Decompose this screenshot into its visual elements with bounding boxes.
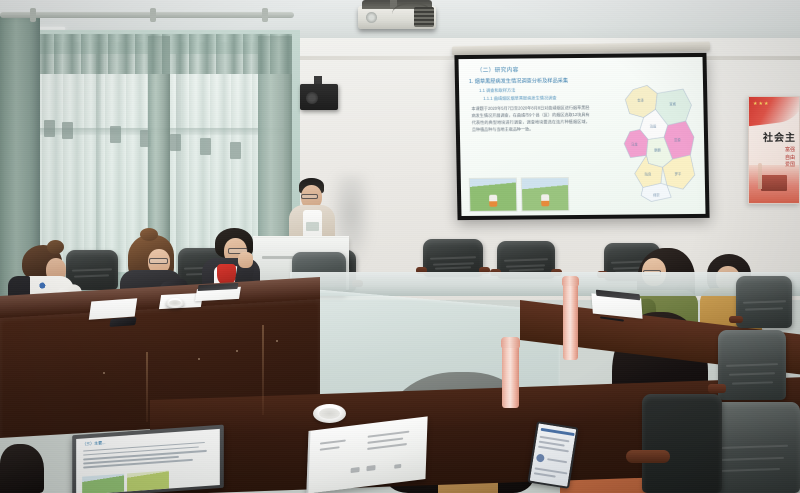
attendee-1-hair-bun xyxy=(47,240,64,254)
laptop-photo-2 xyxy=(127,471,169,492)
attendee-8-hair xyxy=(0,444,44,493)
map-svg-icon xyxy=(613,79,699,208)
ashtray-left xyxy=(166,298,184,308)
slide-photo-row xyxy=(469,177,570,212)
map-label-8: 师宗 xyxy=(653,192,659,197)
qujing-district-map: 会泽 宣威 沾益 富源 马龙 麒麟 陆良 罗平 师宗 xyxy=(613,79,699,208)
projector-lens-icon xyxy=(366,12,377,23)
attendee-2-hair-bun xyxy=(140,228,158,241)
map-label-6: 陆良 xyxy=(645,171,651,176)
presenter-glasses-icon xyxy=(301,194,318,199)
slide-body-text: 本课题于2020年5月7日至2020年8月8日对曲靖烟区进行烟草黑胫病发生情况开… xyxy=(471,104,590,134)
attendee-2-glasses-icon xyxy=(149,258,168,264)
table-seam-1 xyxy=(262,325,264,415)
pink-thermos-center[interactable] xyxy=(563,282,578,360)
laptop-photo-1 xyxy=(82,474,124,493)
ashtray-center xyxy=(313,404,346,423)
presenter-shirt-graphic xyxy=(306,222,319,231)
map-label-2: 沾益 xyxy=(650,123,656,128)
laptop-screen: （三）主要... xyxy=(76,429,220,493)
table-far-surface xyxy=(290,272,800,296)
conference-room-photo: （二）研究内容 1. 烟草黑胫病发生情况调查分析及样品采集 1.1 调查和取样方… xyxy=(0,0,800,493)
slide-photo-2 xyxy=(521,177,570,211)
pink-thermos-left[interactable] xyxy=(502,344,519,408)
pink-thermos-center-cap[interactable] xyxy=(562,276,579,286)
curtain-heading-pleats xyxy=(0,34,292,74)
chair-right-1[interactable] xyxy=(736,276,792,328)
curtain-rod xyxy=(0,12,294,18)
poster-monument-icon xyxy=(761,175,787,191)
open-laptop[interactable]: （三）主要... xyxy=(72,425,224,493)
map-label-1: 宣威 xyxy=(669,101,675,106)
map-label-7: 罗平 xyxy=(675,171,681,176)
map-label-4: 马龙 xyxy=(631,142,637,147)
projector-vent-icon xyxy=(414,7,434,27)
map-label-5: 麒麟 xyxy=(654,147,660,152)
map-label-0: 会泽 xyxy=(637,97,643,102)
chair-foreground-right[interactable] xyxy=(642,394,722,493)
poster-value-1: 自由 xyxy=(785,155,795,163)
projection-screen: （二）研究内容 1. 烟草黑胫病发生情况调查分析及样品采集 1.1 调查和取样方… xyxy=(454,53,709,220)
chair-right-2[interactable] xyxy=(718,330,786,400)
map-label-3: 富源 xyxy=(674,137,680,142)
poster-title: 社会主 xyxy=(763,129,796,144)
slide-photo-1 xyxy=(469,178,518,212)
attendee-3-hand xyxy=(238,252,253,268)
poster-stars-icon: ★★★ xyxy=(753,101,769,107)
poster-column-icon xyxy=(758,163,762,189)
pink-thermos-left-cap[interactable] xyxy=(501,337,520,348)
core-values-poster: ★★★ 社会主 富强 自由 爱国 xyxy=(748,96,800,204)
slide-content: （二）研究内容 1. 烟草黑胫病发生情况调查分析及样品采集 1.1 调查和取样方… xyxy=(458,57,705,216)
podium-slot xyxy=(262,256,296,259)
poster-value-0: 富强 xyxy=(785,147,795,155)
speaker-cone-icon xyxy=(306,92,318,104)
table-seam-2 xyxy=(146,352,148,422)
slide-title: （二）研究内容 xyxy=(477,64,695,74)
